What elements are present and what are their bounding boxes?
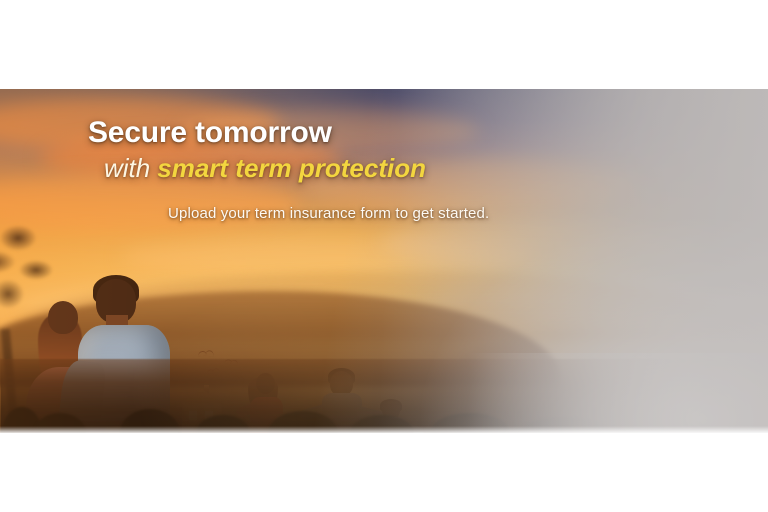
hero-subheadline-accent: smart term protection bbox=[157, 153, 426, 183]
hero-headline: Secure tomorrow bbox=[88, 116, 332, 150]
banner-bottom-edge bbox=[0, 426, 768, 433]
hero-subheadline-lead: with bbox=[104, 153, 150, 183]
page-root: Secure tomorrow withsmart term protectio… bbox=[0, 0, 768, 512]
hero-banner[interactable]: Secure tomorrow withsmart term protectio… bbox=[0, 89, 768, 433]
hero-subheadline: withsmart term protection bbox=[104, 153, 426, 184]
hero-tagline: Upload your term insurance form to get s… bbox=[168, 205, 489, 222]
